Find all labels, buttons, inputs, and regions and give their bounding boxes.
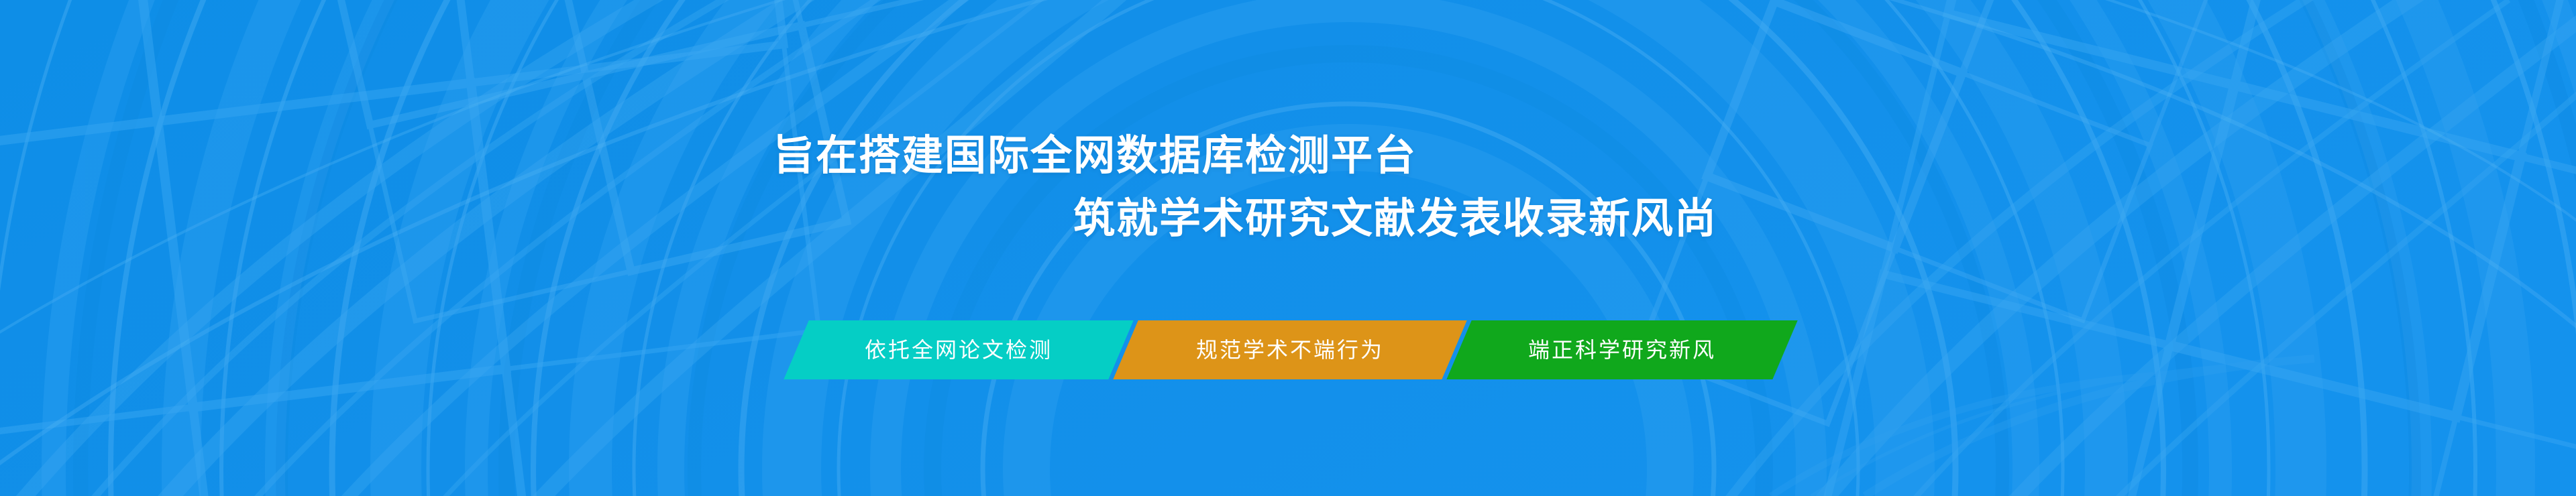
feature-tag-research-ethos-label: 端正科学研究新风 (1528, 339, 1716, 361)
feature-tag-misconduct-label: 规范学术不端行为 (1196, 339, 1384, 361)
headline-line-2: 筑就学术研究文献发表收录新风尚 (1073, 198, 1717, 240)
promo-banner: 旨在搭建国际全网数据库检测平台 筑就学术研究文献发表收录新风尚 依托全网论文检测… (0, 0, 2576, 496)
feature-tag-research-ethos[interactable]: 端正科学研究新风 (1446, 320, 1797, 379)
feature-tag-detection-label: 依托全网论文检测 (865, 339, 1053, 361)
feature-tag-detection[interactable]: 依托全网论文检测 (784, 320, 1133, 379)
feature-tag-row: 依托全网论文检测 规范学术不端行为 端正科学研究新风 (0, 320, 2576, 379)
feature-tag-misconduct[interactable]: 规范学术不端行为 (1113, 320, 1466, 379)
banner-content: 旨在搭建国际全网数据库检测平台 筑就学术研究文献发表收录新风尚 依托全网论文检测… (0, 0, 2576, 496)
headline-line-1: 旨在搭建国际全网数据库检测平台 (773, 135, 1417, 177)
